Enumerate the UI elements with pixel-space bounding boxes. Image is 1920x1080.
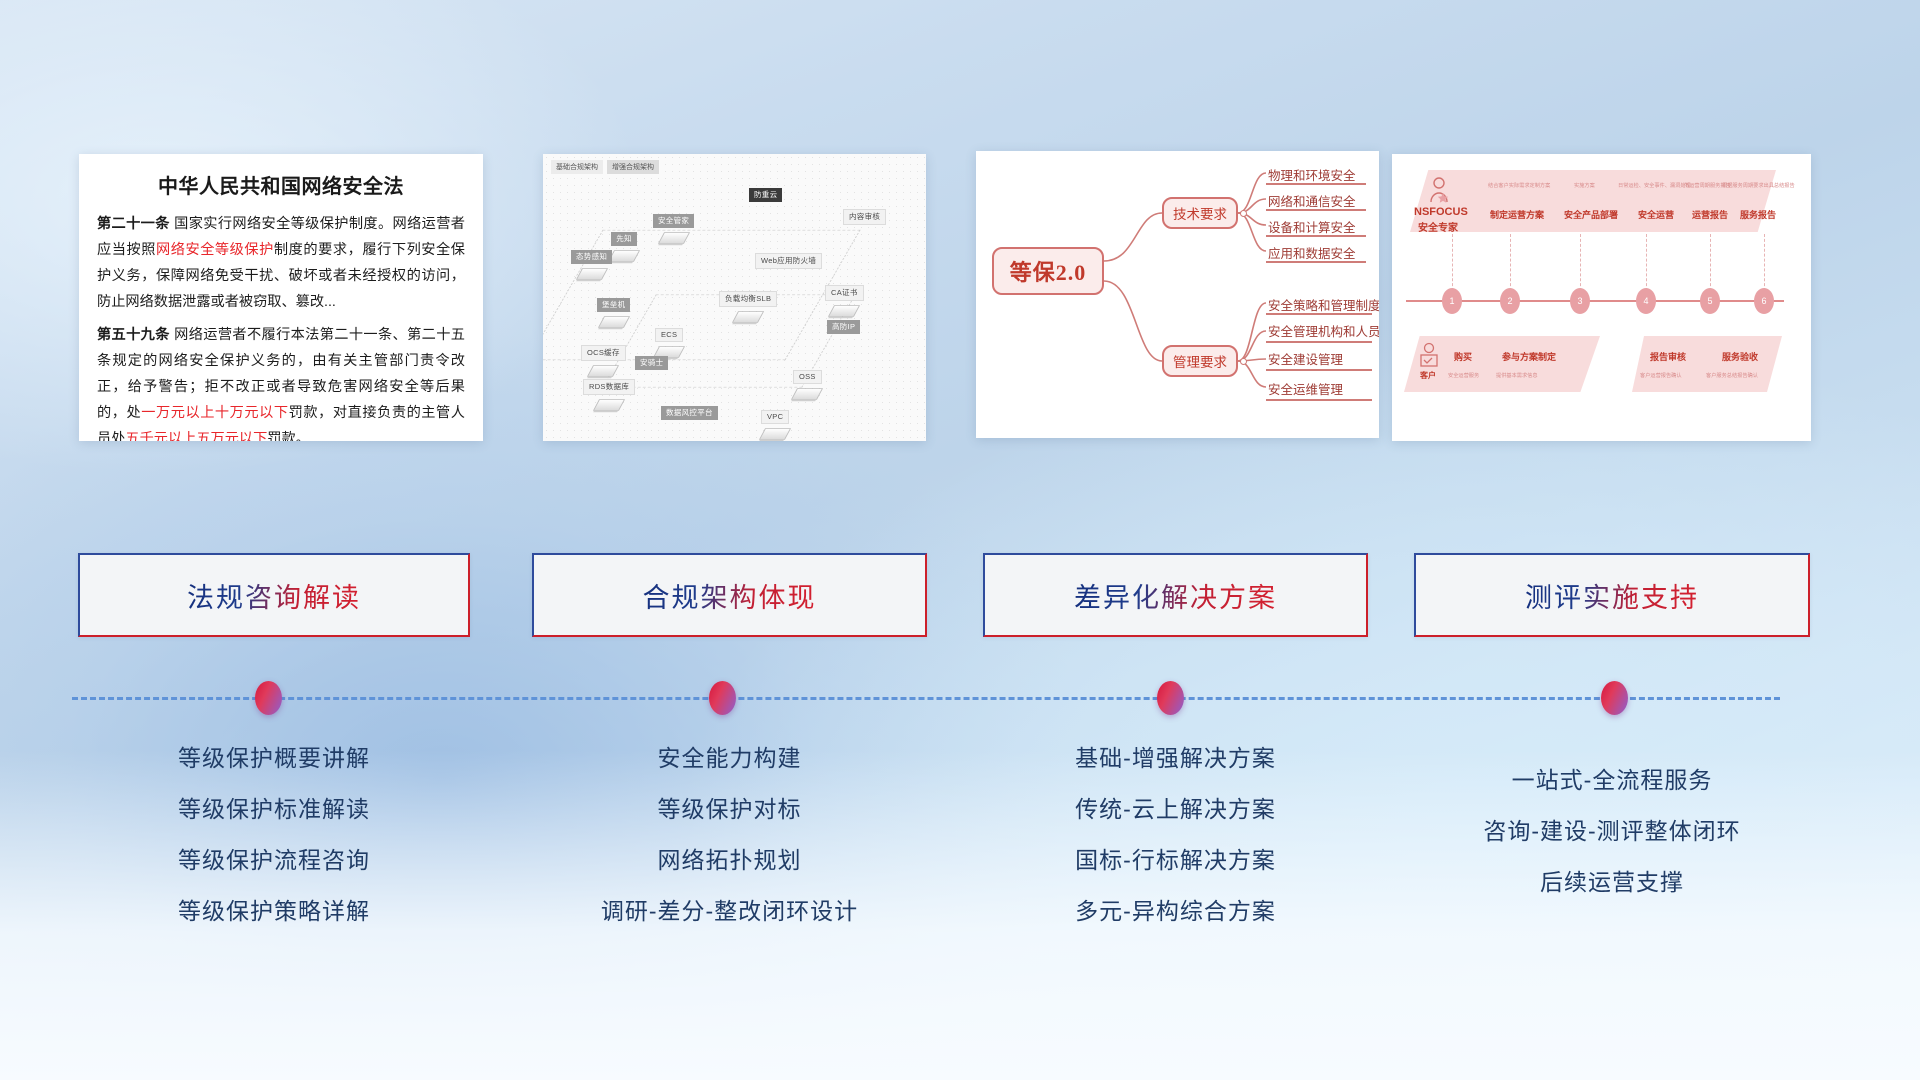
timeline-step-2[interactable]: 2 xyxy=(1500,288,1520,314)
arch-node-baoleiji: 堡垒机 xyxy=(597,294,630,330)
section-header-label-3: 差异化解决方案 xyxy=(1074,576,1277,615)
arch-node-vpc: VPC xyxy=(761,406,789,441)
mindmap-underline xyxy=(1266,209,1366,211)
timeline-bottom-sub-3: 客户服务总结报告确认 xyxy=(1706,372,1758,379)
arch-node-anquanguanjia: 安全管家 xyxy=(653,210,694,246)
timeline-top-sub-1: 实施方案 xyxy=(1574,182,1595,189)
section-list-1: 等级保护概要讲解 等级保护标准解读 等级保护流程咨询 等级保护策略详解 xyxy=(78,733,470,937)
arch-label-5: ECS xyxy=(655,328,683,342)
arch-cylinder-icon xyxy=(593,399,625,411)
list-item: 后续运营支撑 xyxy=(1414,857,1810,908)
arch-node-ca: CA证书 xyxy=(825,282,864,319)
article-59-highlight-1: 一万元以上十万元以下 xyxy=(141,405,288,421)
arch-node-oss: OSS xyxy=(793,366,822,402)
list-item: 等级保护标准解读 xyxy=(78,784,470,835)
mindmap-branch-label-1: 管理要求 xyxy=(1173,351,1227,371)
list-item: 等级保护流程咨询 xyxy=(78,835,470,886)
arch-label-2: 先知 xyxy=(611,232,637,246)
timeline-top-sub-0: 结合客户实际需求定制方案 xyxy=(1488,182,1550,189)
mindmap-leaf-t1: 网络和通信安全 xyxy=(1268,191,1356,210)
mindmap-leaf-t3: 应用和数据安全 xyxy=(1268,243,1356,262)
arch-cylinder-icon xyxy=(598,316,630,328)
mindmap-underline xyxy=(1266,341,1372,343)
arch-node-slb: 负载均衡SLB xyxy=(719,288,777,325)
arch-label-12: OCS缓存 xyxy=(581,345,626,361)
timeline-bottom-title-3: 服务验收 xyxy=(1722,350,1758,363)
timeline-customer-label: 客户 xyxy=(1420,370,1436,381)
timeline-bottom-sub-2: 客户运营报告确认 xyxy=(1640,372,1682,379)
timeline-top-title-1: 安全产品部署 xyxy=(1564,208,1618,221)
list-item: 一站式-全流程服务 xyxy=(1414,755,1810,806)
list-item: 咨询-建设-测评整体闭环 xyxy=(1414,806,1810,857)
card-cybersecurity-law: 中华人民共和国网络安全法 第二十一条 国家实行网络安全等级保护制度。网络运营者应… xyxy=(79,154,483,441)
mindmap-branch-technical[interactable]: 技术要求 xyxy=(1162,197,1238,229)
article-59-label: 第五十九条 xyxy=(97,327,170,343)
arch-cylinder-icon xyxy=(828,305,860,317)
section-list-2: 安全能力构建 等级保护对标 网络拓扑规划 调研-差分-整改闭环设计 xyxy=(532,733,927,937)
arch-label-7: Web应用防火墙 xyxy=(755,253,822,269)
timeline-bottom-title-1: 参与方案制定 xyxy=(1502,350,1556,363)
timeline-bottom-sub-1: 提供基本需求信息 xyxy=(1496,372,1538,379)
timeline-drop-line xyxy=(1764,234,1765,296)
architecture-diagram: 基础合规架构 增强合规架构 防重云 安全管家 先知 态势感知 堡垒机 xyxy=(543,154,926,441)
timeline-top-band xyxy=(1410,170,1776,232)
mindmap-leaf-m1: 安全管理机构和人员 xyxy=(1268,321,1379,340)
mindmap: 等保2.0 技术要求 管理要求 物理和环境安全 网络和通信安全 设备和计算安全 … xyxy=(976,151,1379,438)
list-item: 网络拓扑规划 xyxy=(532,835,927,886)
section-list-4: 一站式-全流程服务 咨询-建设-测评整体闭环 后续运营支撑 xyxy=(1414,755,1810,908)
list-item: 等级保护策略详解 xyxy=(78,886,470,937)
architecture-tabs: 基础合规架构 增强合规架构 xyxy=(551,160,659,174)
timeline-step-1[interactable]: 1 xyxy=(1442,288,1462,314)
arch-label-6: 安骑士 xyxy=(635,356,668,370)
arch-node-datariskcontrol: 数据风控平台 xyxy=(661,402,718,420)
mindmap-underline xyxy=(1266,261,1366,263)
section-header-label-1: 法规咨询解读 xyxy=(187,576,361,615)
section-header-4[interactable]: 测评实施支持 xyxy=(1414,553,1810,637)
arch-cylinder-icon xyxy=(658,232,690,244)
timeline-top-title-0: 制定运营方案 xyxy=(1490,208,1544,221)
list-item: 调研-差分-整改闭环设计 xyxy=(532,886,927,937)
timeline-drop-line xyxy=(1452,234,1453,296)
arch-node-taishiganzhi: 态势感知 xyxy=(571,246,612,282)
section-header-1[interactable]: 法规咨询解读 xyxy=(78,553,470,637)
list-item: 多元-异构综合方案 xyxy=(983,886,1368,937)
arch-label-9: CA证书 xyxy=(825,285,864,301)
mindmap-leaf-m2: 安全建设管理 xyxy=(1268,349,1343,368)
timeline-step-4[interactable]: 4 xyxy=(1636,288,1656,314)
mindmap-root-node[interactable]: 等保2.0 xyxy=(992,247,1104,295)
section-header-3[interactable]: 差异化解决方案 xyxy=(983,553,1368,637)
article-59-text-c: 罚款。 xyxy=(267,431,310,441)
timeline-bottom-band-right xyxy=(1632,336,1782,392)
arch-label-8: 负载均衡SLB xyxy=(719,291,777,307)
mindmap-root-label: 等保2.0 xyxy=(1010,255,1087,287)
list-item: 等级保护对标 xyxy=(532,784,927,835)
arch-label-14: 数据风控平台 xyxy=(661,406,718,420)
mindmap-underline xyxy=(1266,183,1366,185)
section-list-3: 基础-增强解决方案 传统-云上解决方案 国标-行标解决方案 多元-异构综合方案 xyxy=(983,733,1368,937)
timeline-bottom-sub-0: 安全运营服务 xyxy=(1448,372,1479,379)
timeline-brand: NSFOCUS xyxy=(1414,206,1468,218)
timeline-top-sub-2: 日常运检、安全事件、漏洞处理 xyxy=(1618,182,1691,189)
mindmap-leaf-m3: 安全运维管理 xyxy=(1268,379,1343,398)
timeline-drop-line xyxy=(1510,234,1511,296)
timeline-axis xyxy=(1406,300,1784,302)
security-expert-icon xyxy=(1426,176,1452,206)
timeline-step-3[interactable]: 3 xyxy=(1570,288,1590,314)
arch-node-rds: RDS数据库 xyxy=(583,376,635,413)
arch-node-neirongshenhe: 内容审核 xyxy=(843,206,886,225)
mindmap-leaf-m0: 安全策略和管理制度 xyxy=(1268,295,1379,314)
timeline-top-sub-4: 根据服务周期要求出具总结报告 xyxy=(1722,182,1795,189)
mindmap-branch-management[interactable]: 管理要求 xyxy=(1162,345,1238,377)
article-21-label: 第二十一条 xyxy=(97,216,170,232)
timeline-drop-line xyxy=(1580,234,1581,296)
timeline-bullet-1[interactable] xyxy=(255,681,282,715)
timeline-dashed-rail xyxy=(72,697,1780,700)
timeline-step-5[interactable]: 5 xyxy=(1700,288,1720,314)
law-article-21: 第二十一条 国家实行网络安全等级保护制度。网络运营者应当按照网络安全等级保护制度… xyxy=(97,211,465,315)
customer-icon xyxy=(1418,342,1440,368)
list-item: 基础-增强解决方案 xyxy=(983,733,1368,784)
timeline-drop-line xyxy=(1646,234,1647,296)
arch-node-gaofangip: 高防IP xyxy=(827,316,860,334)
arch-label-16: VPC xyxy=(761,410,789,424)
mindmap-branch-dot xyxy=(1240,210,1247,217)
arch-label-0: 防重云 xyxy=(749,188,782,202)
mindmap-underline xyxy=(1266,235,1366,237)
list-item: 等级保护概要讲解 xyxy=(78,733,470,784)
arch-cylinder-icon xyxy=(759,428,791,440)
mindmap-branch-dot xyxy=(1240,358,1247,365)
list-item: 传统-云上解决方案 xyxy=(983,784,1368,835)
arch-node-fangyun: 防重云 xyxy=(749,184,782,202)
tab-basic-compliance[interactable]: 基础合规架构 xyxy=(551,160,603,174)
arch-label-10: 高防IP xyxy=(827,320,860,334)
arch-node-anqishi: 安骑士 xyxy=(635,352,668,370)
arch-cylinder-icon xyxy=(791,388,823,400)
arch-cylinder-icon xyxy=(587,365,619,377)
arch-label-1: 安全管家 xyxy=(653,214,694,228)
card-service-timeline: NSFOCUS 安全专家 结合客户实际需求定制方案 制定运营方案 实施方案 安全… xyxy=(1392,154,1811,441)
law-article-59: 第五十九条 网络运营者不履行本法第二十一条、第二十五条规定的网络安全保护义务的，… xyxy=(97,322,465,441)
arch-label-11: 内容审核 xyxy=(843,209,886,225)
timeline-bottom-title-0: 购买 xyxy=(1454,350,1472,363)
card-cloud-architecture: 基础合规架构 增强合规架构 防重云 安全管家 先知 态势感知 堡垒机 xyxy=(543,154,926,441)
arch-label-3: 态势感知 xyxy=(571,250,612,264)
mindmap-leaf-t0: 物理和环境安全 xyxy=(1268,165,1356,184)
timeline-bullet-3[interactable] xyxy=(1157,681,1184,715)
arch-label-13: RDS数据库 xyxy=(583,379,635,395)
arch-cylinder-icon xyxy=(732,311,764,323)
mindmap-leaf-t2: 设备和计算安全 xyxy=(1268,217,1356,236)
law-document: 中华人民共和国网络安全法 第二十一条 国家实行网络安全等级保护制度。网络运营者应… xyxy=(79,154,483,441)
article-21-highlight: 网络安全等级保护 xyxy=(156,242,274,258)
arch-node-waf: Web应用防火墙 xyxy=(755,250,822,269)
arch-cylinder-icon xyxy=(608,250,640,262)
section-header-2[interactable]: 合规架构体现 xyxy=(532,553,927,637)
timeline-step-6[interactable]: 6 xyxy=(1754,288,1774,314)
timeline-top-title-2: 安全运营 xyxy=(1638,208,1674,221)
mindmap-underline xyxy=(1266,399,1372,401)
list-item: 安全能力构建 xyxy=(532,733,927,784)
tab-enhanced-compliance[interactable]: 增强合规架构 xyxy=(607,160,659,174)
list-item: 国标-行标解决方案 xyxy=(983,835,1368,886)
mindmap-underline xyxy=(1266,369,1372,371)
timeline-bullet-2[interactable] xyxy=(709,681,736,715)
section-header-label-4: 测评实施支持 xyxy=(1525,576,1699,615)
timeline-top-title-4: 服务报告 xyxy=(1740,208,1776,221)
law-title: 中华人民共和国网络安全法 xyxy=(97,170,465,199)
timeline-bullet-4[interactable] xyxy=(1601,681,1628,715)
mindmap-underline xyxy=(1266,313,1372,315)
service-timeline-graphic: NSFOCUS 安全专家 结合客户实际需求定制方案 制定运营方案 实施方案 安全… xyxy=(1392,154,1811,441)
mindmap-branch-label-0: 技术要求 xyxy=(1173,203,1227,223)
arch-label-15: OSS xyxy=(793,370,822,384)
timeline-bottom-title-2: 报告审核 xyxy=(1650,350,1686,363)
arch-node-xianzhi: 先知 xyxy=(611,228,637,264)
timeline-top-title-3: 运营报告 xyxy=(1692,208,1728,221)
card-mindmap-dengbao: 等保2.0 技术要求 管理要求 物理和环境安全 网络和通信安全 设备和计算安全 … xyxy=(976,151,1379,438)
timeline-brand-sub: 安全专家 xyxy=(1418,219,1458,234)
timeline-drop-line xyxy=(1710,234,1711,296)
arch-label-4: 堡垒机 xyxy=(597,298,630,312)
section-header-label-2: 合规架构体现 xyxy=(643,576,817,615)
arch-cylinder-icon xyxy=(576,268,608,280)
arch-node-ocs: OCS缓存 xyxy=(581,342,626,379)
article-59-highlight-2: 五千元以上五万元以下 xyxy=(125,431,267,441)
